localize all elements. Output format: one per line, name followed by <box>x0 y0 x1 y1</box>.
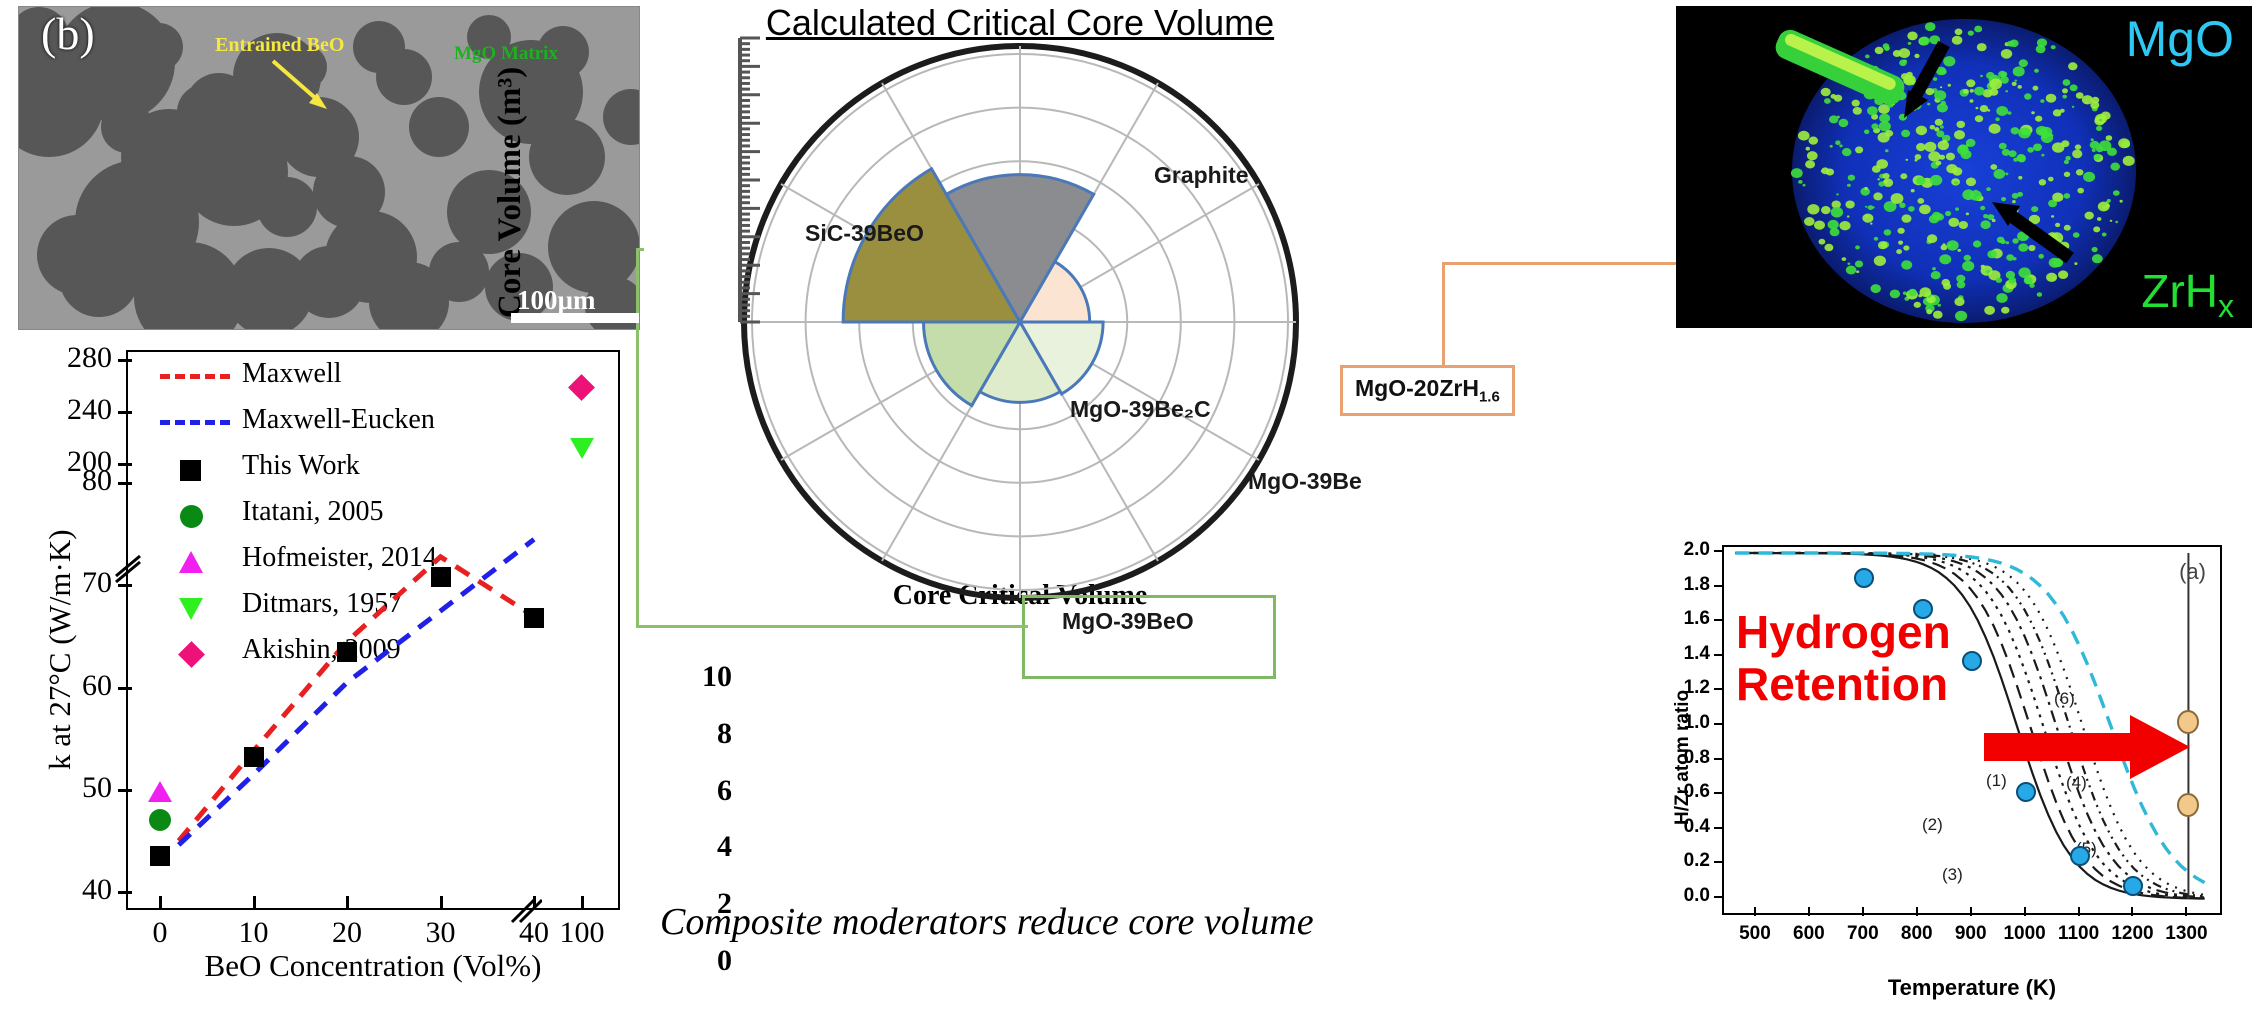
h-x-tick-mark <box>2024 907 2026 916</box>
connector-right-v <box>1442 262 1445 368</box>
zr-speckle <box>2005 90 2008 92</box>
critical-core-volume-chart <box>640 0 1400 700</box>
zr-speckle <box>1999 143 2007 150</box>
h-x-tick-label: 600 <box>1779 923 1839 945</box>
h-curve-annotation: (3) <box>1942 865 1963 885</box>
zr-speckle <box>1791 168 1803 178</box>
zr-speckle <box>2010 40 2019 48</box>
zr-speckle <box>1957 281 1966 288</box>
zr-speckle <box>2082 95 2093 104</box>
zr-speckle <box>1855 261 1863 268</box>
zr-speckle <box>1938 141 1949 151</box>
zr-speckle <box>1834 95 1842 102</box>
zr-speckle <box>1804 217 1815 226</box>
h-plot-frame: (a) Hydrogen Retention (1) 2 K/min(2) 5 … <box>1722 545 2222 915</box>
polar-tick-label: 10 <box>678 660 732 694</box>
zr-speckle <box>2000 240 2005 245</box>
k-y-tick-label: 70 <box>8 566 112 600</box>
h-x-tick-label: 800 <box>1887 923 1947 945</box>
zrh-callout-subscript: 1.6 <box>1479 389 1500 406</box>
zr-speckle <box>1992 219 1996 222</box>
h-curve-annotation: (1) <box>1986 771 2007 791</box>
zr-speckle <box>1865 206 1867 208</box>
h-y-tick-mark <box>1714 827 1723 829</box>
k-x-tick-label: 20 <box>302 916 392 950</box>
zr-speckle <box>1916 126 1927 136</box>
h-x-tick-label: 1300 <box>2156 923 2216 945</box>
zr-speckle <box>1839 119 1849 127</box>
h-y-tick-label: 1.8 <box>1658 574 1710 596</box>
zr-speckle <box>1989 88 1998 96</box>
zr-speckle <box>1864 130 1869 135</box>
zr-speckle <box>1973 240 1981 247</box>
zr-speckle <box>2073 232 2080 238</box>
zr-speckle <box>1798 180 1802 184</box>
zr-speckle <box>1842 148 1852 156</box>
zr-speckle <box>1821 206 1831 214</box>
zr-speckle <box>1896 249 1902 254</box>
zr-speckle <box>1940 86 1942 88</box>
zr-speckle <box>1901 260 1912 269</box>
zr-speckle <box>1919 205 1931 215</box>
zr-speckle <box>2001 71 2008 77</box>
zr-speckle <box>1948 84 1951 87</box>
zr-speckle <box>2115 221 2118 223</box>
zr-speckle <box>1918 294 1922 297</box>
zr-speckle <box>1899 60 1907 67</box>
zr-speckle <box>2018 176 2022 180</box>
h-curve-annotation: (6) <box>2054 689 2075 709</box>
zr-speckle <box>2039 179 2046 185</box>
zr-speckle <box>1976 107 1979 109</box>
h-data-point <box>2070 846 2090 866</box>
zr-speckle <box>1830 228 1840 236</box>
h-x-tick-mark <box>1754 907 1756 916</box>
k-y-tick-label: 40 <box>8 873 112 907</box>
zr-speckle <box>1848 175 1855 181</box>
overlay-line-2: Retention <box>1736 659 1951 711</box>
zr-speckle <box>1862 214 1873 223</box>
zr-speckle <box>1916 177 1925 185</box>
zr-speckle <box>1924 142 1936 152</box>
connector-left-v <box>636 248 639 628</box>
zr-speckle <box>2099 140 2112 151</box>
zr-speckle <box>2012 193 2019 199</box>
zr-speckle <box>1891 193 1904 204</box>
h-y-tick-mark <box>1714 896 1723 898</box>
zrh-fluorescence-image: MgO ZrHx <box>1676 6 2252 328</box>
zr-speckle <box>1932 267 1936 270</box>
zr-speckle <box>2018 85 2022 89</box>
zr-speckle <box>1957 121 1966 128</box>
zr-speckle <box>1903 75 1916 86</box>
zr-speckle <box>1981 265 1986 269</box>
zr-speckle <box>2002 149 2010 156</box>
zr-speckle <box>2041 132 2053 143</box>
zr-speckle <box>1980 105 1988 112</box>
zr-speckle <box>2092 254 2103 263</box>
sem-grain <box>177 84 233 140</box>
zr-speckle <box>2110 163 2120 171</box>
zr-speckle <box>1954 181 1958 184</box>
zr-speckle <box>2031 111 2035 114</box>
zr-speckle <box>1911 189 1915 192</box>
zr-speckle <box>1968 31 1974 36</box>
zr-speckle <box>1915 154 1922 160</box>
zr-speckle <box>1872 206 1875 208</box>
y-axis-break-icon <box>112 552 146 586</box>
sem-grain <box>257 177 317 237</box>
zr-speckle <box>2064 193 2071 199</box>
zr-speckle <box>2034 69 2039 73</box>
zr-speckle <box>2018 243 2028 251</box>
zr-speckle <box>1943 243 1946 245</box>
zr-speckle <box>1930 175 1942 186</box>
zr-speckle <box>1864 187 1868 190</box>
zr-speckle <box>1954 130 1965 139</box>
zr-speckle <box>1870 223 1872 225</box>
zr-speckle <box>2058 270 2068 279</box>
h-y-tick-label: 0.8 <box>1658 747 1710 769</box>
k-y-tick-label: 280 <box>8 341 112 375</box>
zr-speckle <box>1933 311 1943 319</box>
zr-speckle <box>1798 131 1810 141</box>
zr-speckle <box>1977 43 1987 51</box>
h-x-tick-mark <box>1916 907 1918 916</box>
h-data-point <box>2016 782 2036 802</box>
zr-speckle <box>1871 284 1881 293</box>
zr-speckle <box>1934 127 1939 131</box>
zr-speckle <box>1846 266 1857 275</box>
figure-caption: Composite moderators reduce core volume <box>660 900 1680 944</box>
zr-speckle <box>2027 147 2034 153</box>
polar-tick-label: 6 <box>678 774 732 808</box>
zr-speckle <box>1952 167 1962 175</box>
zr-speckle <box>1855 146 1863 153</box>
zrh-callout-box[interactable]: MgO-20ZrH1.6 <box>1340 365 1515 416</box>
zr-speckle <box>2046 94 2057 103</box>
zr-speckle <box>1885 130 1893 137</box>
zr-speckle <box>2064 172 2070 177</box>
scale-bar <box>511 313 640 323</box>
h-x-tick-label: 700 <box>1833 923 1893 945</box>
zr-speckle <box>2063 79 2071 86</box>
h-y-tick-label: 1.4 <box>1658 643 1710 665</box>
sem-grain <box>293 246 365 318</box>
zr-speckle <box>2015 80 2018 82</box>
zr-speckle <box>1865 55 1869 59</box>
connector-right-h <box>1442 262 1680 265</box>
k-x-tick-label: 10 <box>209 916 299 950</box>
zr-speckle <box>2001 49 2012 59</box>
zr-speckle <box>1821 88 1831 97</box>
zr-speckle <box>2012 200 2016 203</box>
zr-speckle <box>2098 202 2110 212</box>
h-y-tick-label: 1.2 <box>1658 677 1710 699</box>
zr-speckle <box>1927 234 1937 243</box>
h-x-tick-mark <box>1862 907 1864 916</box>
polar-tick-label: 4 <box>678 830 732 864</box>
zr-speckle <box>1900 173 1907 179</box>
zr-speckle <box>1852 100 1860 107</box>
zr-speckle <box>1996 293 2007 303</box>
zr-speckle <box>1865 215 1868 218</box>
zr-speckle <box>1877 178 1880 180</box>
k-data-point <box>337 642 357 662</box>
h-y-tick-label: 0.4 <box>1658 816 1710 838</box>
zr-speckle <box>1897 228 1904 234</box>
zr-speckle <box>1926 309 1932 314</box>
zr-speckle <box>2053 109 2062 116</box>
zr-speckle <box>2018 267 2030 278</box>
h-x-tick-mark <box>2185 907 2187 916</box>
zr-speckle <box>1957 249 1961 252</box>
zr-speckle <box>1890 290 1900 299</box>
zr-speckle <box>1914 302 1921 308</box>
zr-speckle <box>2106 135 2113 141</box>
zr-speckle <box>2072 106 2075 108</box>
h-x-tick-label: 500 <box>1725 923 1785 945</box>
zr-speckle <box>1871 123 1878 129</box>
zr-speckle <box>1980 220 1990 229</box>
zr-speckle <box>1996 106 2008 116</box>
zr-speckle <box>2110 220 2113 222</box>
zr-speckle <box>1839 144 1842 147</box>
zr-speckle <box>1917 198 1924 204</box>
zr-speckle <box>1884 229 1892 235</box>
zr-speckle <box>2006 241 2010 244</box>
sem-grain <box>101 101 153 153</box>
zr-speckle <box>1983 214 1988 218</box>
sem-grain <box>529 119 605 195</box>
zr-speckle <box>2072 150 2082 159</box>
h-x-tick-mark <box>2078 907 2080 916</box>
zr-speckle <box>1986 72 1995 79</box>
zr-speckle <box>2048 177 2054 182</box>
zr-speckle <box>1819 239 1826 245</box>
zr-speckle <box>1883 173 1890 179</box>
k-x-tick-label: 100 <box>537 916 627 950</box>
zr-speckle <box>2033 144 2042 152</box>
zr-speckle <box>2068 62 2077 70</box>
zrh-image-zrh-label: ZrHx <box>2141 264 2234 325</box>
zr-speckle <box>2097 217 2101 221</box>
sem-grain <box>603 89 640 145</box>
zr-speckle <box>2035 116 2042 122</box>
zr-speckle <box>1831 207 1843 218</box>
zr-speckle <box>2064 225 2071 231</box>
zr-speckle <box>1903 292 1907 295</box>
h-x-tick-label: 900 <box>1941 923 2001 945</box>
polar-axis-y-label: Core Volume (m³) <box>492 67 529 318</box>
zr-speckle <box>1926 88 1935 95</box>
zr-speckle <box>1908 206 1915 212</box>
h-data-point <box>1962 651 1982 671</box>
h-y-tick-mark <box>1714 654 1723 656</box>
sem-grain <box>409 97 469 157</box>
zr-speckle <box>1948 218 1959 227</box>
h-panel-tag: (a) <box>2179 559 2206 585</box>
zr-speckle <box>1966 79 1975 87</box>
zr-speckle <box>1936 130 1944 137</box>
sem-grain <box>59 237 139 317</box>
zr-speckle <box>1916 143 1926 151</box>
zr-speckle <box>1963 89 1969 94</box>
zr-speckle <box>2102 233 2107 237</box>
h-x-tick-mark <box>2131 907 2133 916</box>
k-data-point <box>148 781 172 802</box>
zrh-image-zrh-subscript: x <box>2218 288 2234 324</box>
zr-speckle <box>1907 32 1917 41</box>
sem-matrix-annotation: MgO Matrix <box>454 43 558 65</box>
h-curve-annotation: (4) <box>2066 773 2087 793</box>
zr-speckle <box>1927 103 1930 106</box>
zrh-image-zrh-text: ZrH <box>2141 265 2218 317</box>
zr-speckle <box>1842 257 1847 261</box>
scale-bar-label: 100µm <box>517 285 596 316</box>
h-y-tick-mark <box>1714 792 1723 794</box>
connector-left-b <box>636 625 1028 628</box>
zr-speckle <box>1925 22 1936 31</box>
zr-speckle <box>2019 59 2028 67</box>
zr-speckle <box>1974 87 1985 96</box>
k-y-tick-label: 240 <box>8 393 112 427</box>
zr-speckle <box>1856 270 1859 273</box>
zr-speckle <box>1839 221 1850 230</box>
zr-speckle <box>1955 29 1963 36</box>
zr-speckle <box>1937 304 1941 307</box>
zr-speckle <box>1874 256 1886 266</box>
k-y-tick-label: 50 <box>8 771 112 805</box>
zr-speckle <box>1878 181 1884 186</box>
zr-speckle <box>2123 156 2135 166</box>
zr-speckle <box>2024 93 2031 99</box>
zr-speckle <box>2076 169 2084 175</box>
zr-speckle <box>2013 158 2018 162</box>
zr-speckle <box>2062 95 2067 99</box>
zr-speckle <box>2006 254 2014 261</box>
zr-speckle <box>2113 190 2120 196</box>
zr-speckle <box>1962 261 1974 271</box>
zr-speckle <box>1893 50 1901 57</box>
zr-speckle <box>2070 84 2078 91</box>
h-y-tick-mark <box>1714 619 1723 621</box>
zr-speckle <box>2055 223 2060 227</box>
zr-speckle <box>1874 237 1878 241</box>
zr-speckle <box>1955 207 1959 210</box>
zr-speckle <box>2101 112 2111 120</box>
zr-speckle <box>1806 147 1810 151</box>
zr-speckle <box>1946 153 1955 161</box>
zr-speckle <box>1990 164 1997 170</box>
zr-speckle <box>1803 184 1806 187</box>
sem-beo-annotation: Entrained BeO <box>215 34 344 57</box>
zr-speckle <box>1908 42 1912 45</box>
h-x-tick-label: 1100 <box>2049 923 2109 945</box>
zr-speckle <box>1899 203 1905 209</box>
zr-speckle <box>1987 109 1990 112</box>
zr-speckle <box>1970 99 1974 102</box>
h-y-tick-label: 1.0 <box>1658 712 1710 734</box>
zr-speckle <box>1906 159 1909 161</box>
zr-speckle <box>2107 199 2111 202</box>
zr-speckle <box>2038 254 2044 259</box>
h-y-tick-mark <box>1714 585 1723 587</box>
zr-speckle <box>1821 167 1829 174</box>
zr-speckle <box>2096 126 2102 131</box>
polar-tick-label: 8 <box>678 717 732 751</box>
thermal-conductivity-chart: k at 27°C (W/m·K) BeO Concentration (Vol… <box>8 340 648 1020</box>
zr-speckle <box>1915 159 1918 162</box>
zr-speckle <box>1929 215 1939 224</box>
zr-speckle <box>1828 220 1839 230</box>
zr-speckle <box>2083 172 2095 182</box>
zr-speckle <box>1986 187 1991 191</box>
zr-speckle <box>1936 161 1942 166</box>
h-x-tick-label: 1200 <box>2102 923 2162 945</box>
zr-speckle <box>2037 292 2042 297</box>
zr-speckle <box>1901 130 1910 138</box>
h-curve-annotation: (2) <box>1922 815 1943 835</box>
h-data-point <box>1854 568 1874 588</box>
zr-speckle <box>1867 106 1878 115</box>
zr-speckle <box>1879 114 1890 123</box>
polar-tick-label: 0 <box>678 944 732 978</box>
zr-speckle <box>1814 221 1825 230</box>
x-axis-break-icon <box>508 896 542 930</box>
zr-speckle <box>1919 37 1930 46</box>
zr-speckle <box>2013 66 2025 76</box>
zr-speckle <box>1824 244 1833 252</box>
zrh-image-mgo-label: MgO <box>2126 10 2234 68</box>
zr-speckle <box>1885 46 1890 50</box>
sem-grain <box>135 23 183 71</box>
zr-speckle <box>1898 241 1903 245</box>
zr-speckle <box>1824 98 1831 104</box>
h-x-tick-mark <box>1808 907 1810 916</box>
zr-speckle <box>1903 245 1909 250</box>
zr-speckle <box>2031 206 2038 212</box>
zr-speckle <box>1987 250 1997 258</box>
zr-speckle <box>1805 160 1815 168</box>
zr-speckle <box>2046 273 2057 282</box>
zr-speckle <box>1830 145 1833 148</box>
hydrogen-retention-overlay-text: Hydrogen Retention <box>1736 607 1951 710</box>
beo-pointer-arrow <box>269 57 339 117</box>
zr-speckle <box>1939 254 1951 264</box>
zr-speckle <box>1939 155 1945 160</box>
zr-speckle <box>1809 137 1819 145</box>
zr-speckle <box>2099 119 2102 122</box>
k-y-tick-label: 200 <box>8 445 112 479</box>
zr-speckle <box>1952 36 1963 45</box>
zr-speckle <box>2093 226 2100 232</box>
zr-speckle <box>2001 197 2006 201</box>
red-arrow-icon <box>1984 713 2194 783</box>
zr-speckle <box>1885 149 1889 152</box>
zr-speckle <box>1853 107 1862 115</box>
zr-speckle <box>2085 212 2094 220</box>
zr-speckle <box>1943 56 1955 66</box>
zr-speckle <box>2092 149 2096 152</box>
zr-speckle <box>2018 128 2031 139</box>
zr-speckle <box>2091 138 2094 141</box>
polar-sector-label: MgO-39Be <box>1248 468 1362 495</box>
k-x-tick-label: 30 <box>396 916 486 950</box>
zr-speckle <box>1855 245 1860 249</box>
zr-speckle <box>2008 277 2016 284</box>
zr-speckle <box>2120 200 2123 203</box>
